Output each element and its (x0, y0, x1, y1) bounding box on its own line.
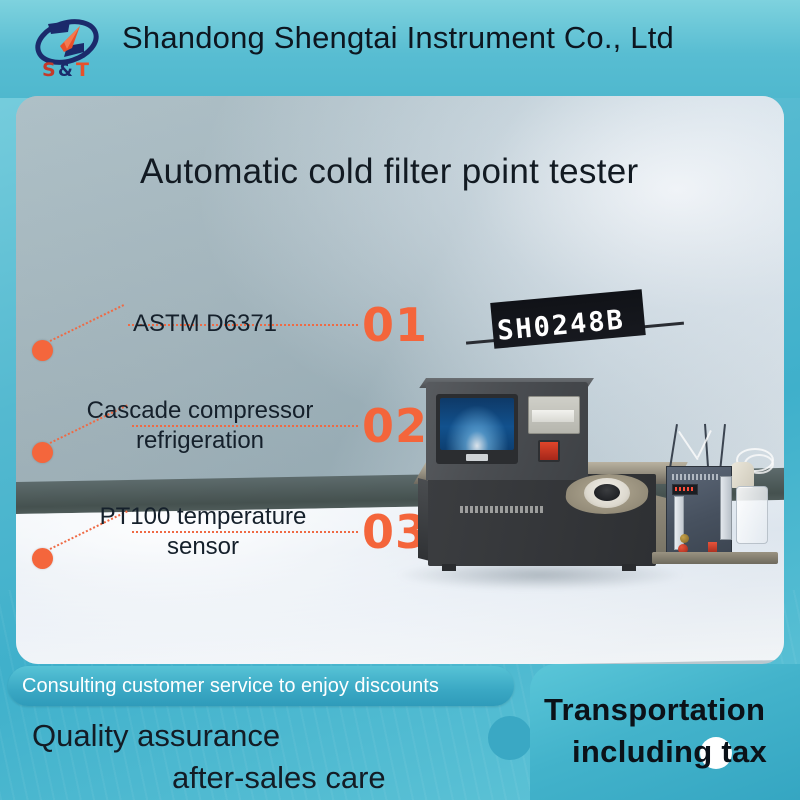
feature-item-02: Cascade compressor refrigeration 02 (0, 392, 440, 488)
feature-item-01: ASTM D6371 01 (0, 296, 440, 392)
svg-text:&: & (58, 61, 73, 81)
page-header: S & T Shandong Shengtai Instrument Co., … (0, 0, 800, 98)
feature-bullet-dot (32, 548, 53, 569)
feature-label-02-line1: Cascade compressor (70, 396, 330, 426)
apparatus-valve-knob (680, 534, 689, 543)
shipping-panel (530, 664, 800, 800)
machine-screen-button (466, 454, 488, 461)
machine-front-label (460, 506, 544, 513)
product-secondary-apparatus (652, 424, 784, 576)
slogan-line-1: Quality assurance (32, 718, 280, 754)
shipping-line-2: including tax (572, 734, 767, 770)
feature-label-01: ASTM D6371 (90, 309, 320, 339)
apparatus-tube-1 (678, 431, 699, 460)
apparatus-flask-top (730, 462, 754, 488)
feature-label-02-line2: refrigeration (70, 426, 330, 456)
shipping-line-1: Transportation (544, 692, 765, 728)
apparatus-panel-title-strip (672, 474, 718, 480)
feature-label-03-line2: sensor (78, 532, 328, 562)
poster-root: S & T Shandong Shengtai Instrument Co., … (0, 0, 800, 800)
machine-printer-slot (532, 410, 574, 422)
feature-bullet-dot (32, 340, 53, 361)
machine-foot-left (442, 564, 456, 571)
apparatus-digital-display (672, 484, 698, 495)
svg-text:T: T (76, 59, 89, 81)
feature-item-03: PT100 temperature sensor 03 (0, 498, 440, 594)
machine-power-button (538, 440, 560, 462)
apparatus-rod-3 (719, 424, 726, 472)
feature-number-01: 01 (362, 302, 428, 348)
apparatus-glass-bottle (736, 486, 768, 544)
feature-bullet-dot (32, 442, 53, 463)
panel-accent-circle-left (488, 716, 532, 760)
apparatus-base-tray (652, 552, 778, 564)
promo-banner-text: Consulting customer service to enjoy dis… (22, 675, 439, 698)
machine-lcd-screen (440, 398, 514, 450)
feature-label-03-line1: PT100 temperature (78, 502, 328, 532)
svg-text:S: S (42, 59, 56, 81)
promo-banner-pill[interactable]: Consulting customer service to enjoy dis… (8, 666, 514, 706)
machine-foot-right (622, 564, 636, 571)
apparatus-flowmeter-2 (720, 476, 732, 540)
page-title: Automatic cold filter point tester (140, 152, 638, 192)
company-logo-icon: S & T (24, 12, 110, 86)
machine-test-well-hole (594, 484, 620, 501)
slogan-line-2: after-sales care (172, 760, 386, 796)
company-name: Shandong Shengtai Instrument Co., Ltd (122, 20, 674, 56)
product-main-instrument (418, 378, 688, 573)
